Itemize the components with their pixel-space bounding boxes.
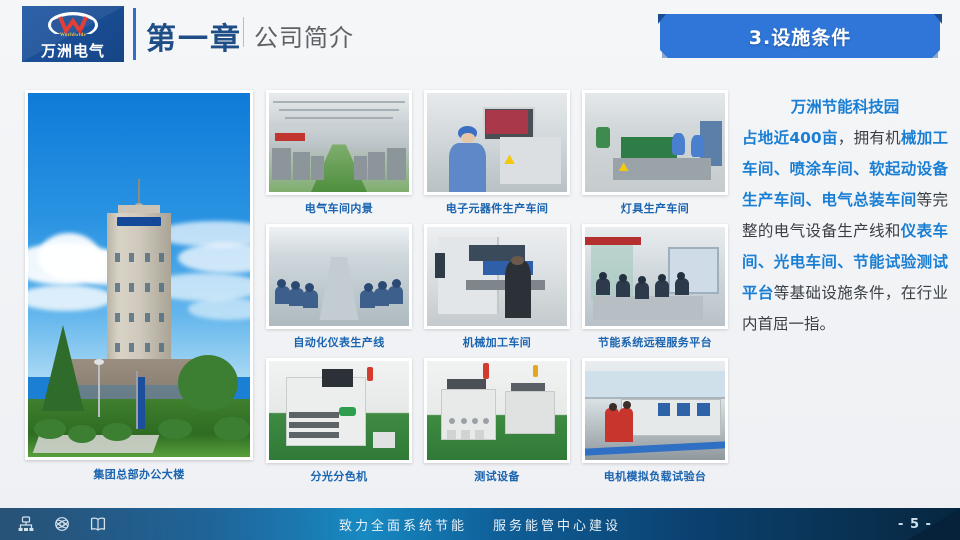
- thumbnail-frame: [266, 224, 412, 329]
- remote-service-platform-photo: [585, 227, 725, 326]
- machining-workshop-photo: [427, 227, 567, 326]
- grid-item-caption: 电子元器件生产车间: [424, 200, 570, 216]
- thumbnail-frame: [424, 358, 570, 463]
- thumbnail-frame: [424, 90, 570, 195]
- street-lamp-pole: [98, 363, 100, 417]
- section-banner: 3.设施条件: [660, 14, 940, 58]
- spectrophotometer-machine-photo: [269, 361, 409, 460]
- shrub: [158, 419, 192, 439]
- thumbnail-frame: [266, 358, 412, 463]
- thumbnail-frame: [582, 358, 728, 463]
- shrub: [68, 425, 96, 443]
- hero-photo-frame: [25, 90, 253, 460]
- shrub: [214, 417, 250, 441]
- vertical-banner: [138, 377, 145, 429]
- grid-item: 节能系统远程服务平台: [582, 224, 728, 350]
- shrub: [102, 423, 132, 441]
- grid-item-caption: 测试设备: [424, 468, 570, 484]
- grid-item: 自动化仪表生产线: [266, 224, 412, 350]
- logo-company-name: 万洲电气: [22, 40, 124, 61]
- lamp-production-workshop-photo: [585, 93, 725, 192]
- grid-item-caption: 自动化仪表生产线: [266, 334, 412, 350]
- grid-item-caption: 灯具生产车间: [582, 200, 728, 216]
- thumbnail-frame: [582, 224, 728, 329]
- thumbnail-frame: [582, 90, 728, 195]
- w-shield-icon: [47, 11, 99, 34]
- grid-item-caption: 机械加工车间: [424, 334, 570, 350]
- section-banner-label: 3.设施条件: [660, 14, 940, 58]
- header-accent-bar: [133, 8, 136, 60]
- conifer-tree: [42, 325, 84, 411]
- title-separator: [243, 17, 244, 47]
- body-text-plain-1: ，拥有机: [838, 129, 901, 147]
- grid-item: 电子元器件生产车间: [424, 90, 570, 216]
- body-text-highlight-1: 占地近400亩: [742, 129, 838, 147]
- page-number: - 5 -: [870, 508, 960, 540]
- grid-item: 分光分色机: [266, 358, 412, 484]
- shrub: [34, 419, 66, 439]
- grid-item: 测试设备: [424, 358, 570, 484]
- grid-item: 灯具生产车间: [582, 90, 728, 216]
- company-logo: Worldwide 万洲电气: [22, 6, 124, 62]
- page-subtitle: 公司简介: [254, 18, 354, 53]
- body-text-line1: 万洲节能科技园: [742, 92, 948, 123]
- hero-caption: 集团总部办公大楼: [25, 466, 253, 482]
- photo-grid: 电气车间内景 电子元器件生产车间: [266, 90, 728, 478]
- thumbnail-frame: [266, 90, 412, 195]
- body-text-panel: 万洲节能科技园占地近400亩，拥有机械加工车间、喷涂车间、软起动设备生产车间、电…: [742, 92, 948, 472]
- building-signage: [117, 217, 161, 226]
- grid-item-caption: 分光分色机: [266, 468, 412, 484]
- grid-item: 电机模拟负载试验台: [582, 358, 728, 484]
- electronic-components-workshop-photo: [427, 93, 567, 192]
- grid-item-caption: 节能系统远程服务平台: [582, 334, 728, 350]
- grid-item: 机械加工车间: [424, 224, 570, 350]
- thumbnail-frame: [424, 224, 570, 329]
- group-headquarters-building-photo: [28, 93, 250, 457]
- footer-slogan-right: 服务能管中心建设: [493, 515, 621, 534]
- shrub: [178, 355, 238, 411]
- slide-footer: 致力全面系统节能 服务能管中心建设 - 5 -: [0, 508, 960, 540]
- body-text-plain-3: 等基础设施条件，在行业内首屈一指。: [742, 284, 948, 333]
- slide-header: Worldwide 万洲电气 第一章 公司简介 3.设施条件: [0, 0, 960, 78]
- footer-slogan: 致力全面系统节能 服务能管中心建设: [0, 508, 960, 540]
- footer-slogan-left: 致力全面系统节能: [339, 515, 467, 534]
- automated-instrument-line-photo: [269, 227, 409, 326]
- grid-item-caption: 电气车间内景: [266, 200, 412, 216]
- grid-item-caption: 电机模拟负载试验台: [582, 468, 728, 484]
- logo-latin-text: Worldwide: [22, 33, 124, 38]
- street-lamp-head: [94, 359, 104, 365]
- test-equipment-photo: [427, 361, 567, 460]
- motor-load-test-bench-photo: [585, 361, 725, 460]
- electrical-workshop-interior-photo: [269, 93, 409, 192]
- slide-root: Worldwide 万洲电气 第一章 公司简介 3.设施条件: [0, 0, 960, 540]
- chapter-title: 第一章: [146, 14, 242, 58]
- grid-item: 电气车间内景: [266, 90, 412, 216]
